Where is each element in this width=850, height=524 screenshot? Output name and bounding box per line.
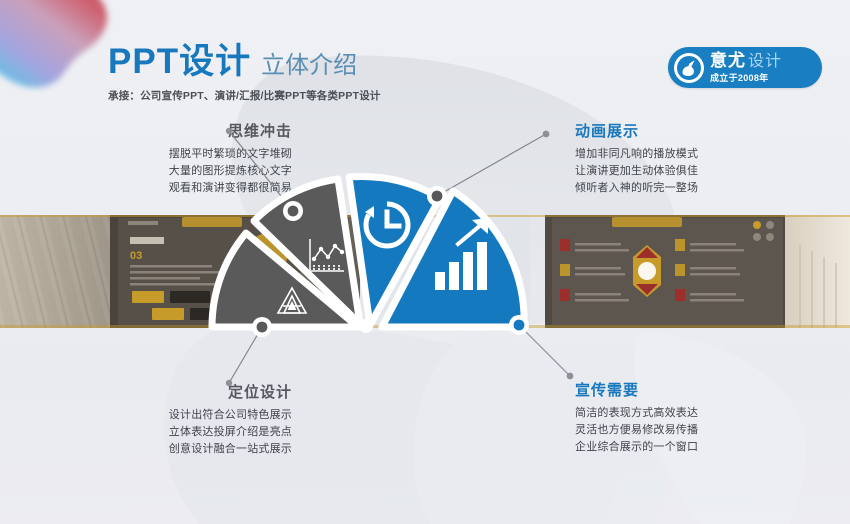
slide-canvas: 03 bbox=[0, 0, 850, 524]
callout-top-left: 思维冲击 摆脱平时繁琐的文字堆砌 大量的图形提炼核心文字 观看和演讲变得都很简易 bbox=[60, 120, 292, 197]
callout-bottom-left-line2: 立体表达投屏介绍是亮点 bbox=[60, 424, 292, 441]
page-tagline: 承接：公司宣传PPT、演讲/汇报/比赛PPT等各类PPT设计 bbox=[108, 88, 381, 103]
callout-bottom-right: 宣传需要 简洁的表现方式高效表达 灵活也方便易修改易传播 企业综合展示的一个窗口 bbox=[575, 379, 815, 456]
callout-top-left-line3: 观看和演讲变得都很简易 bbox=[60, 180, 292, 197]
band-artwork: 03 bbox=[0, 215, 850, 328]
svg-text:03: 03 bbox=[130, 250, 142, 262]
logo-brand-light: 设计 bbox=[748, 54, 782, 70]
callout-top-right-line3: 倾听者入神的听完一整场 bbox=[575, 180, 815, 197]
callout-bottom-left: 定位设计 设计出符合公司特色展示 立体表达投屏介绍是亮点 创意设计融合一站式展示 bbox=[60, 381, 292, 458]
callout-top-right-heading: 动画展示 bbox=[575, 120, 815, 141]
callout-bottom-right-line2: 灵活也方便易修改易传播 bbox=[575, 422, 815, 439]
callout-top-left-line2: 大量的图形提炼核心文字 bbox=[60, 163, 292, 180]
logo-brand-bold: 意尤 bbox=[710, 52, 746, 69]
callout-top-right: 动画展示 增加非同凡响的播放模式 让演讲更加生动体验俱佳 倾听者入神的听完一整场 bbox=[575, 120, 815, 197]
callout-bottom-right-line1: 简洁的表现方式高效表达 bbox=[575, 405, 815, 422]
logo-text: 意尤 设计 成立于2008年 bbox=[710, 52, 782, 83]
logo-mark bbox=[674, 53, 704, 83]
brand-logo[interactable]: 意尤 设计 成立于2008年 bbox=[668, 47, 822, 88]
page-title-block: PPT设计 立体介绍 承接：公司宣传PPT、演讲/汇报/比赛PPT等各类PPT设… bbox=[108, 44, 381, 103]
callout-top-right-line1: 增加非同凡响的播放模式 bbox=[575, 146, 815, 163]
callout-bottom-left-heading: 定位设计 bbox=[60, 381, 292, 402]
page-title: PPT设计 bbox=[108, 44, 251, 79]
sample-slides-photo-band: 03 bbox=[0, 215, 850, 328]
callout-top-right-line2: 让演讲更加生动体验俱佳 bbox=[575, 163, 815, 180]
bird-circle-icon bbox=[676, 55, 702, 81]
callout-bottom-left-line1: 设计出符合公司特色展示 bbox=[60, 407, 292, 424]
logo-brand-row: 意尤 设计 bbox=[710, 52, 782, 70]
callout-bottom-right-heading: 宣传需要 bbox=[575, 379, 815, 400]
callout-bottom-right-line3: 企业综合展示的一个窗口 bbox=[575, 439, 815, 456]
callout-top-left-line1: 摆脱平时繁琐的文字堆砌 bbox=[60, 146, 292, 163]
logo-founded: 成立于2008年 bbox=[710, 74, 782, 83]
callout-top-left-heading: 思维冲击 bbox=[60, 120, 292, 141]
title-row: PPT设计 立体介绍 bbox=[108, 44, 381, 79]
page-subtitle: 立体介绍 bbox=[261, 54, 357, 78]
callout-bottom-left-line3: 创意设计融合一站式展示 bbox=[60, 441, 292, 458]
